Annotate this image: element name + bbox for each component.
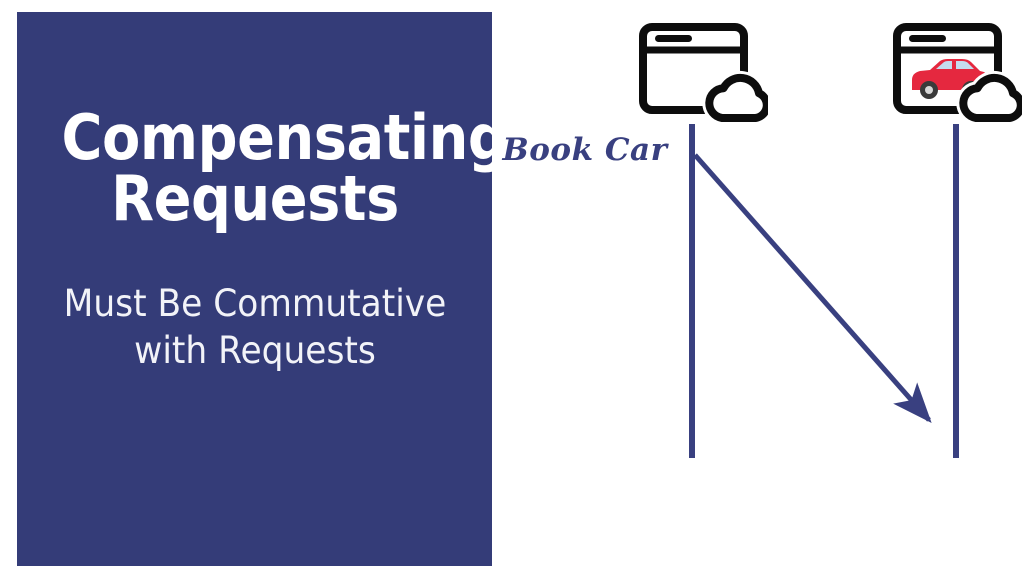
sequence-diagram: Book Car [492, 0, 1024, 576]
book-car-message-arrow [695, 155, 929, 420]
page-subtitle: Must Be Commutative with Requests [55, 280, 455, 375]
slide-canvas: Compensating Requests Must Be Commutativ… [0, 0, 1024, 576]
page-title: Compensating Requests [61, 108, 448, 230]
title-panel: Compensating Requests Must Be Commutativ… [17, 12, 492, 566]
